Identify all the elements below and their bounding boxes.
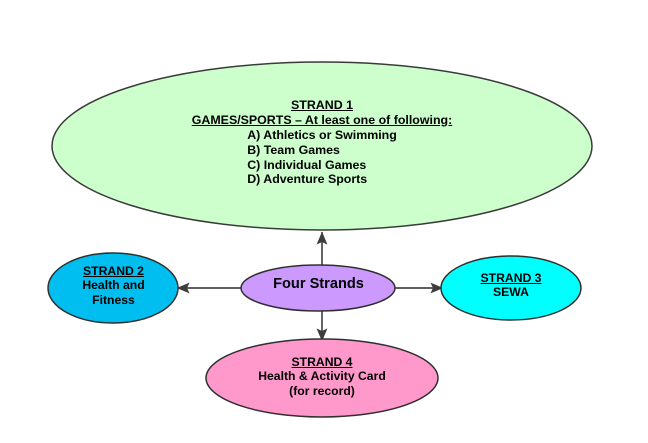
ellipse-strand-1[interactable] xyxy=(52,62,592,230)
diagram-svg xyxy=(0,0,648,443)
ellipse-strand-2[interactable] xyxy=(48,253,178,323)
ellipse-strand-4[interactable] xyxy=(206,339,438,417)
ellipse-strand-3[interactable] xyxy=(441,256,581,320)
diagram-canvas: STRAND 1 GAMES/SPORTS – At least one of … xyxy=(0,0,648,443)
ellipse-four-strands[interactable] xyxy=(241,265,395,311)
